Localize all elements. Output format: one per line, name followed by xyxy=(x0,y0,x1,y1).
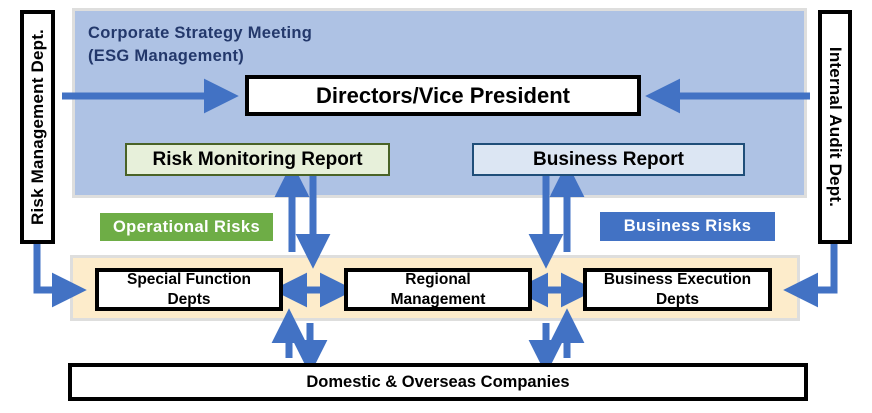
panel-heading: Corporate Strategy Meeting (ESG Manageme… xyxy=(88,22,508,69)
node-risk-monitoring-report: Risk Monitoring Report xyxy=(125,143,390,176)
node-regional-management: Regional Management xyxy=(344,268,532,311)
node-business-execution-depts: Business Execution Depts xyxy=(583,268,772,311)
node-directors-label: Directors/Vice President xyxy=(316,83,570,109)
badge-operational-risks: Operational Risks xyxy=(100,213,273,241)
badge-operational-risks-label: Operational Risks xyxy=(113,218,260,237)
node-special-function-depts: Special Function Depts xyxy=(95,268,283,311)
node-directors-vice-president: Directors/Vice President xyxy=(245,75,641,116)
node-risk-monitoring-report-label: Risk Monitoring Report xyxy=(152,149,362,171)
side-label-internal-audit-dept: Internal Audit Dept. xyxy=(818,10,852,244)
node-business-report-label: Business Report xyxy=(533,149,684,171)
badge-business-risks: Business Risks xyxy=(600,212,775,241)
node-special-function-depts-label: Special Function Depts xyxy=(127,270,251,309)
node-regional-management-label: Regional Management xyxy=(391,270,486,309)
arrow-riskdept-to-ops xyxy=(37,244,70,290)
side-label-left-text: Risk Management Dept. xyxy=(28,29,48,225)
node-domestic-overseas-companies-label: Domestic & Overseas Companies xyxy=(306,373,569,392)
node-business-report: Business Report xyxy=(472,143,745,176)
node-business-execution-depts-label: Business Execution Depts xyxy=(604,270,751,309)
side-label-right-text: Internal Audit Dept. xyxy=(825,47,845,207)
node-domestic-overseas-companies: Domestic & Overseas Companies xyxy=(68,363,808,401)
side-label-risk-management-dept: Risk Management Dept. xyxy=(20,10,55,244)
arrow-auditdept-to-ops xyxy=(800,244,834,290)
badge-business-risks-label: Business Risks xyxy=(624,217,752,236)
diagram-canvas: Corporate Strategy Meeting (ESG Manageme… xyxy=(0,0,872,413)
